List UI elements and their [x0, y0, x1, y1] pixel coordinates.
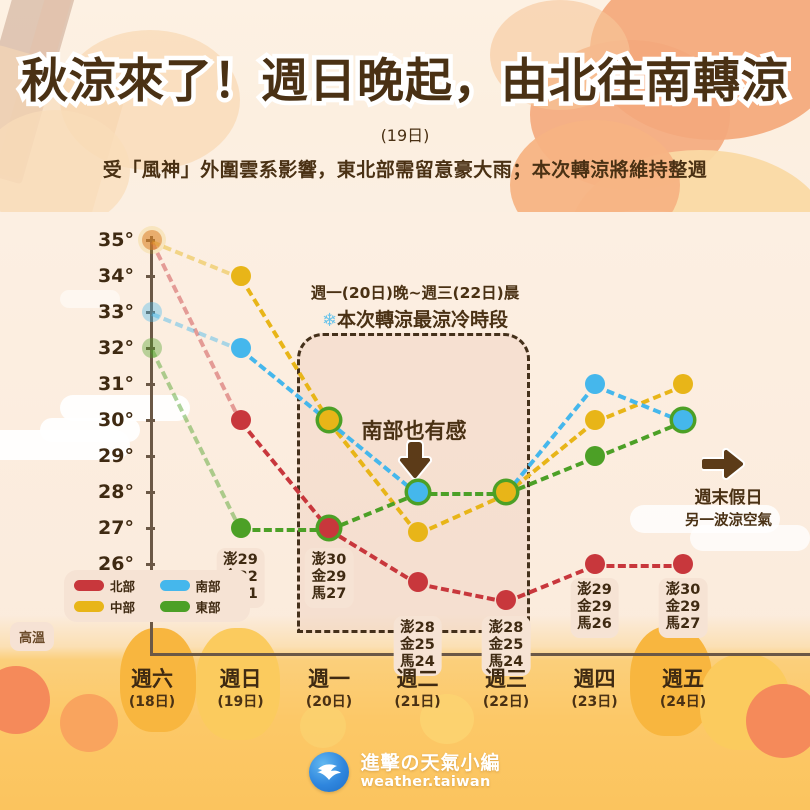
- island-temp-line: 澎29: [577, 582, 612, 599]
- legend-swatch: [160, 580, 190, 591]
- temperature-chart: 35°34°33°32°31°30°29°28°27°26°25° 高溫 週一(…: [0, 0, 810, 810]
- island-temp-line: 金25: [489, 637, 524, 654]
- y-tick-mark: [146, 383, 155, 386]
- legend-label: 北部: [110, 576, 135, 595]
- legend-swatch: [160, 601, 190, 612]
- y-tick-label: 31°: [82, 373, 134, 395]
- island-temp-line: 馬26: [577, 616, 612, 633]
- arrow-down-icon: [396, 440, 432, 482]
- y-tick-label: 35°: [82, 229, 134, 251]
- data-point: [231, 518, 251, 538]
- data-point: [231, 410, 251, 430]
- island-temp-line: 澎28: [400, 620, 435, 637]
- series-segment: [151, 312, 241, 352]
- legend-item-北部[interactable]: 北部: [74, 576, 156, 595]
- weekend-annotation: 週末假日 另一波涼空氣: [666, 483, 791, 530]
- chart-legend: 北部南部中部東部: [64, 570, 250, 622]
- weekend-subtitle: 另一波涼空氣: [666, 509, 791, 530]
- legend-item-東部[interactable]: 東部: [160, 597, 242, 616]
- y-tick-label: 29°: [82, 445, 134, 467]
- footer-branding: 進擊の天氣小編 weather.taiwan: [0, 752, 810, 792]
- x-axis-label: 週五(24日): [628, 668, 738, 711]
- island-temp-line: 澎29: [223, 552, 258, 569]
- legend-label: 南部: [196, 576, 221, 595]
- legend-item-中部[interactable]: 中部: [74, 597, 156, 616]
- series-segment: [594, 420, 684, 460]
- brand-name-en: weather.taiwan: [360, 774, 500, 790]
- y-tick-mark: [146, 527, 155, 530]
- island-temp-line: 金29: [577, 599, 612, 616]
- y-tick-label: 27°: [82, 517, 134, 539]
- y-tick-label: 32°: [82, 337, 134, 359]
- legend-label: 東部: [196, 597, 221, 616]
- data-point: [673, 554, 693, 574]
- data-point: [585, 554, 605, 574]
- cold-period-title: ❄本次轉涼最涼冷時段: [300, 305, 530, 332]
- cold-period-dates: 週一(20日)晚~週三(22日)晨: [300, 281, 530, 303]
- y-tick-mark: [146, 563, 155, 566]
- y-tick-label: 28°: [82, 481, 134, 503]
- weekend-title: 週末假日: [666, 483, 791, 508]
- data-point: [319, 518, 339, 538]
- island-temp-line: 馬27: [312, 586, 347, 603]
- y-tick-mark: [146, 275, 155, 278]
- island-temp-line: 金29: [312, 569, 347, 586]
- x-label-date: (24日): [628, 691, 738, 711]
- island-temp-box: 澎29金29馬26: [570, 578, 619, 638]
- island-temp-line: 金25: [400, 637, 435, 654]
- data-point: [142, 338, 162, 358]
- snowflake-icon: ❄: [322, 310, 337, 331]
- island-temp-line: 澎28: [489, 620, 524, 637]
- data-point: [142, 230, 162, 250]
- arrow-right-icon: [702, 448, 746, 480]
- y-tick-label: 30°: [82, 409, 134, 431]
- data-point: [319, 410, 339, 430]
- data-point: [408, 572, 428, 592]
- island-temp-box: 澎30金29馬27: [305, 548, 354, 608]
- cold-period-annotation: 週一(20日)晚~週三(22日)晨 ❄本次轉涼最涼冷時段: [300, 281, 530, 332]
- y-tick-mark: [146, 455, 155, 458]
- data-point: [673, 410, 693, 430]
- legend-swatch: [74, 580, 104, 591]
- bird-logo-icon: [309, 752, 349, 792]
- island-temp-line: 馬27: [666, 616, 701, 633]
- y-tick-label: 33°: [82, 301, 134, 323]
- y-axis-title: 高溫: [10, 622, 54, 651]
- y-tick-mark: [146, 419, 155, 422]
- island-temp-box: 澎30金29馬27: [659, 578, 708, 638]
- series-segment: [241, 528, 330, 532]
- legend-item-南部[interactable]: 南部: [160, 576, 242, 595]
- legend-swatch: [74, 601, 104, 612]
- data-point: [142, 302, 162, 322]
- brand-name-cn: 進擊の天氣小編: [360, 754, 500, 774]
- data-point: [231, 338, 251, 358]
- data-point: [231, 266, 251, 286]
- y-tick-mark: [146, 491, 155, 494]
- series-segment: [595, 564, 684, 568]
- x-label-day: 週五: [628, 668, 738, 691]
- data-point: [673, 374, 693, 394]
- data-point: [585, 446, 605, 466]
- series-segment: [418, 492, 507, 496]
- data-point: [496, 482, 516, 502]
- island-temp-line: 金29: [666, 599, 701, 616]
- data-point: [585, 374, 605, 394]
- data-point: [408, 482, 428, 502]
- island-temp-line: 澎30: [666, 582, 701, 599]
- series-segment: [150, 349, 242, 531]
- island-temp-line: 澎30: [312, 552, 347, 569]
- y-tick-label: 34°: [82, 265, 134, 287]
- data-point: [408, 522, 428, 542]
- data-point: [585, 410, 605, 430]
- x-axis-line: [150, 653, 810, 656]
- data-point: [496, 590, 516, 610]
- legend-label: 中部: [110, 597, 135, 616]
